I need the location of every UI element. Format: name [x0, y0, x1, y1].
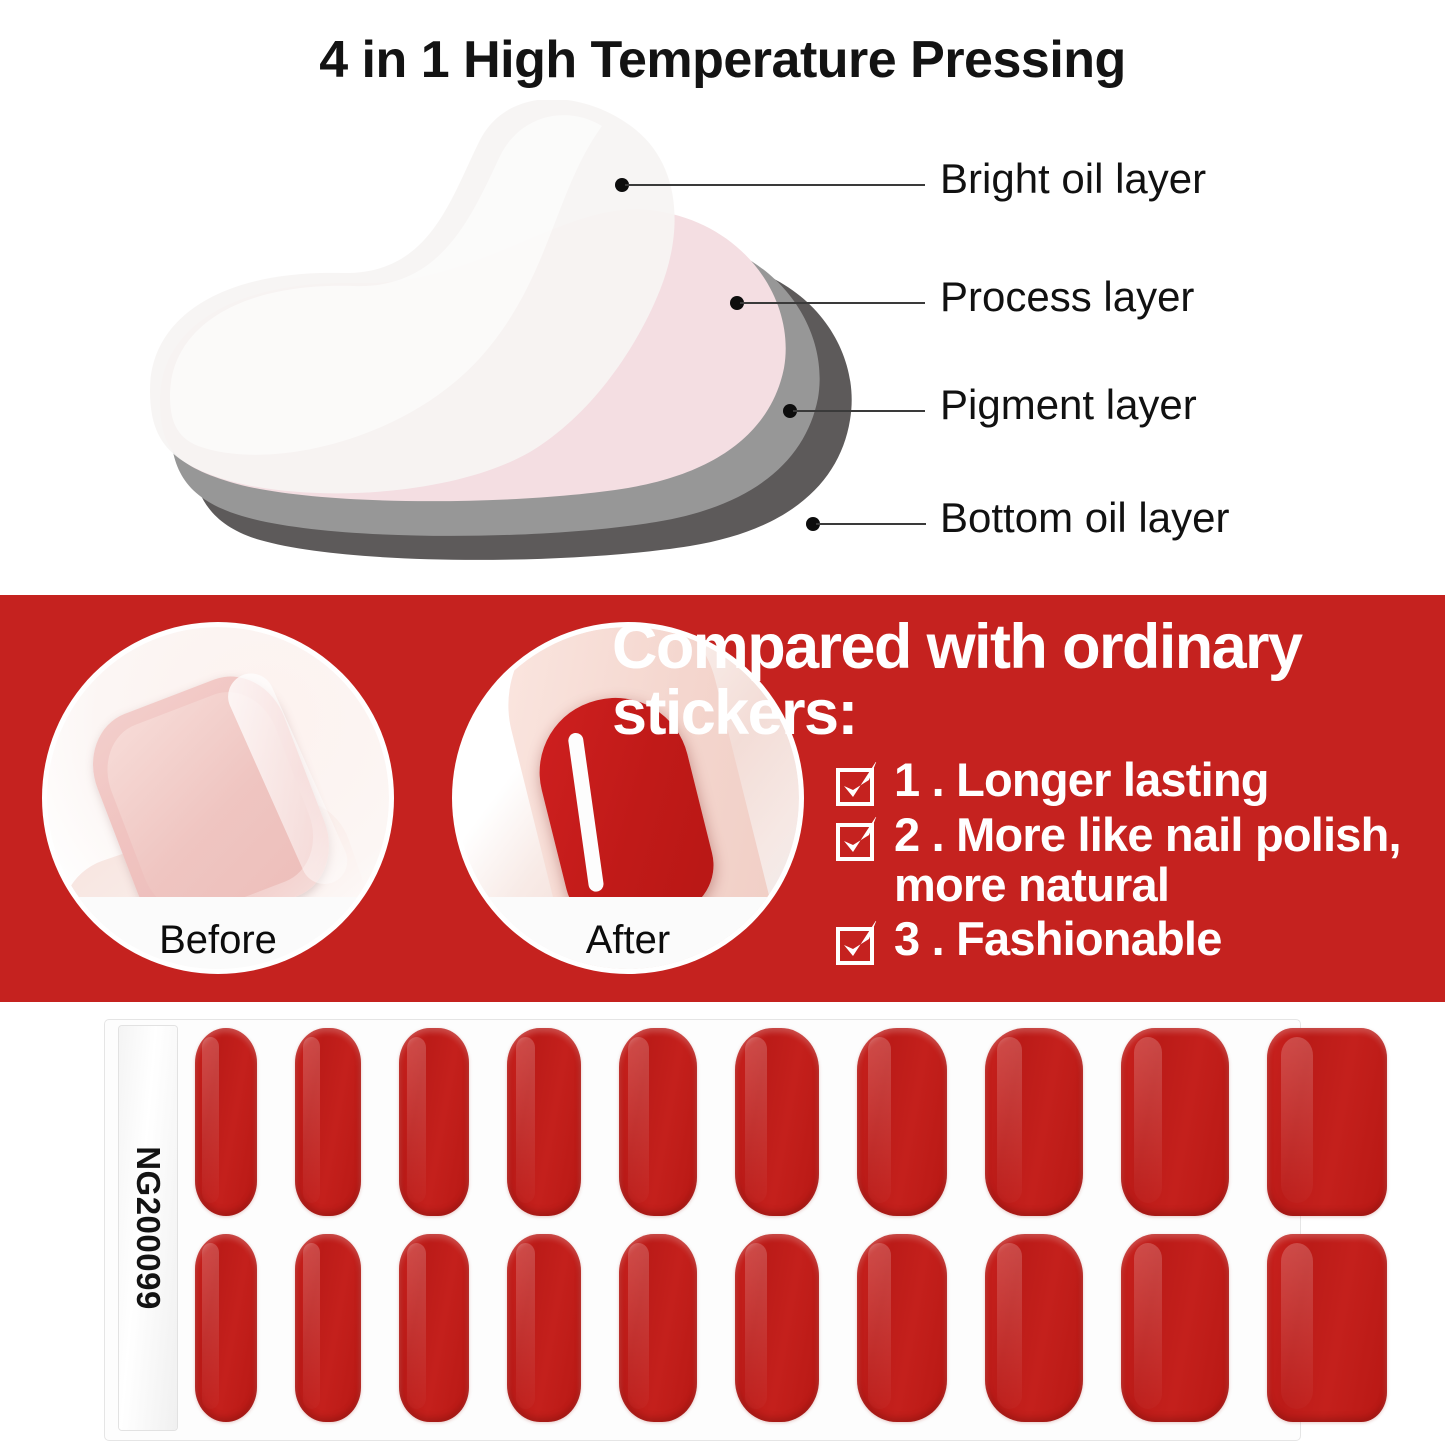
nail-sticker-strip[interactable]	[507, 1234, 581, 1422]
checklist-item: 3 . Fashionable	[836, 914, 1436, 965]
nail-sticker-strip[interactable]	[1121, 1234, 1229, 1422]
after-nail-gloss-highlight	[567, 732, 604, 893]
nail-sticker-strip[interactable]	[399, 1234, 469, 1422]
nail-sticker-strip[interactable]	[735, 1028, 819, 1216]
nail-sticker-strip[interactable]	[857, 1234, 947, 1422]
checkbox-checked-icon	[836, 817, 880, 861]
product-code-text: NG200099	[129, 1146, 167, 1310]
label-process-layer: Process layer	[940, 276, 1194, 318]
nail-sticker-strip[interactable]	[619, 1234, 697, 1422]
comparison-section: Before After Compared with ordinary stic…	[0, 595, 1445, 1002]
leader-line-segment	[740, 302, 925, 304]
label-bottom-oil-layer: Bottom oil layer	[940, 497, 1229, 539]
before-caption: Before	[47, 918, 389, 963]
before-photo-circle: Before	[42, 622, 394, 974]
nail-sticker-strip[interactable]	[1267, 1234, 1387, 1422]
nail-sticker-strip[interactable]	[985, 1234, 1083, 1422]
nail-sticker-strip[interactable]	[985, 1028, 1083, 1216]
label-pigment-layer: Pigment layer	[940, 384, 1197, 426]
nail-sticker-strip[interactable]	[195, 1234, 257, 1422]
product-code-label: NG200099	[119, 1026, 177, 1430]
sticker-row-bottom	[195, 1234, 1425, 1422]
label-bright-oil-layer: Bright oil layer	[940, 158, 1206, 200]
page-title: 4 in 1 High Temperature Pressing	[0, 30, 1445, 90]
nail-layers-svg	[150, 100, 890, 580]
leader-line-segment	[816, 523, 926, 525]
comparison-heading: Compared with ordinary stickers:	[612, 615, 1432, 746]
after-caption: After	[457, 918, 799, 963]
leader-line-pigment-layer	[783, 409, 935, 413]
nail-sticker-strip[interactable]	[295, 1028, 361, 1216]
nail-sticker-strip[interactable]	[857, 1028, 947, 1216]
leader-line-bright-oil-layer	[615, 183, 935, 187]
checkbox-checked-icon	[836, 921, 880, 965]
nail-sticker-strip[interactable]	[1267, 1028, 1387, 1216]
checklist-item-text: 3 . Fashionable	[894, 914, 1222, 964]
checklist-item: 1 . Longer lasting	[836, 755, 1436, 806]
nail-sticker-strip[interactable]	[195, 1028, 257, 1216]
checklist-item-text: 1 . Longer lasting	[894, 755, 1269, 805]
layer-diagram-section: 4 in 1 High Temperature Pressing Bright …	[0, 0, 1445, 595]
checklist-item-text: 2 . More like nail polish, more natural	[894, 810, 1436, 910]
sticker-sheet: NG200099	[105, 1020, 1300, 1440]
leader-line-segment	[625, 184, 925, 186]
nail-sticker-strip[interactable]	[399, 1028, 469, 1216]
benefits-checklist: 1 . Longer lasting 2 . More like nail po…	[836, 755, 1436, 969]
product-infographic: 4 in 1 High Temperature Pressing Bright …	[0, 0, 1445, 1445]
nail-sticker-strip[interactable]	[295, 1234, 361, 1422]
leader-line-segment	[793, 410, 925, 412]
nail-sticker-strip[interactable]	[1121, 1028, 1229, 1216]
nail-sticker-strip[interactable]	[507, 1028, 581, 1216]
leader-line-process-layer	[730, 301, 935, 305]
sticker-row-top	[195, 1028, 1425, 1216]
leader-line-bottom-oil-layer	[806, 522, 936, 526]
nail-layer-stack-illustration	[150, 100, 890, 580]
nail-sticker-strip[interactable]	[619, 1028, 697, 1216]
nail-sticker-strip[interactable]	[735, 1234, 819, 1422]
checklist-item: 2 . More like nail polish, more natural	[836, 810, 1436, 910]
nail-sticker-sheet-section: NG200099	[0, 1002, 1445, 1445]
checkbox-checked-icon	[836, 762, 880, 806]
